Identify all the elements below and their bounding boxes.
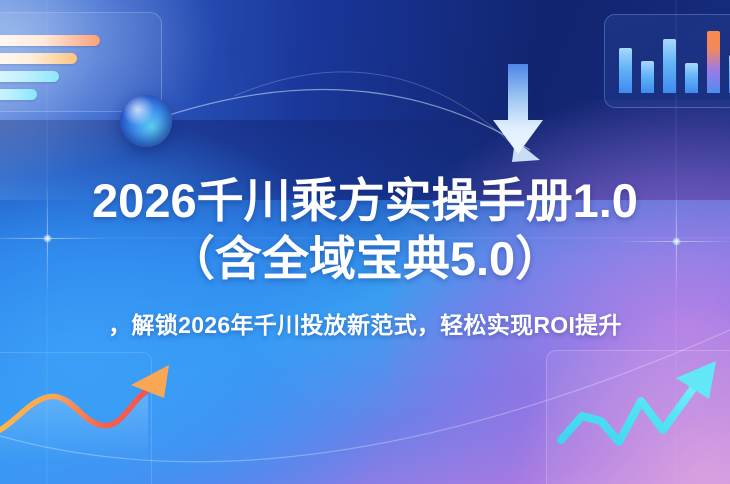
subtitle: ，解锁2026年千川投放新范式，轻松实现ROI提升 <box>0 306 730 340</box>
glossy-sphere-icon <box>120 95 172 147</box>
chart-bar-2 <box>641 61 654 93</box>
list-card-bars <box>0 35 135 107</box>
bar-chart-card <box>604 14 730 108</box>
chart-bar-4 <box>685 63 698 93</box>
list-bar-1 <box>0 35 100 46</box>
list-bar-2 <box>0 53 77 64</box>
title-block: 2026千川乘方实操手册1.0 （含全域宝典5.0） <box>0 172 730 288</box>
down-arrow-icon <box>491 62 545 162</box>
list-bar-3 <box>0 71 59 82</box>
chart-bar-5 <box>707 31 720 93</box>
title-line-1: 2026千川乘方实操手册1.0 <box>0 172 730 230</box>
growth-line-panel <box>0 352 152 484</box>
bar-chart-bars <box>619 31 730 93</box>
title-line-2: （含全域宝典5.0） <box>0 230 730 288</box>
chart-bar-3 <box>663 39 676 93</box>
chart-bar-1 <box>619 48 632 93</box>
list-bar-4 <box>0 89 37 100</box>
growth-arrow-panel <box>546 350 730 484</box>
poster-banner: 2026千川乘方实操手册1.0 （含全域宝典5.0） ，解锁2026年千川投放新… <box>0 0 730 484</box>
